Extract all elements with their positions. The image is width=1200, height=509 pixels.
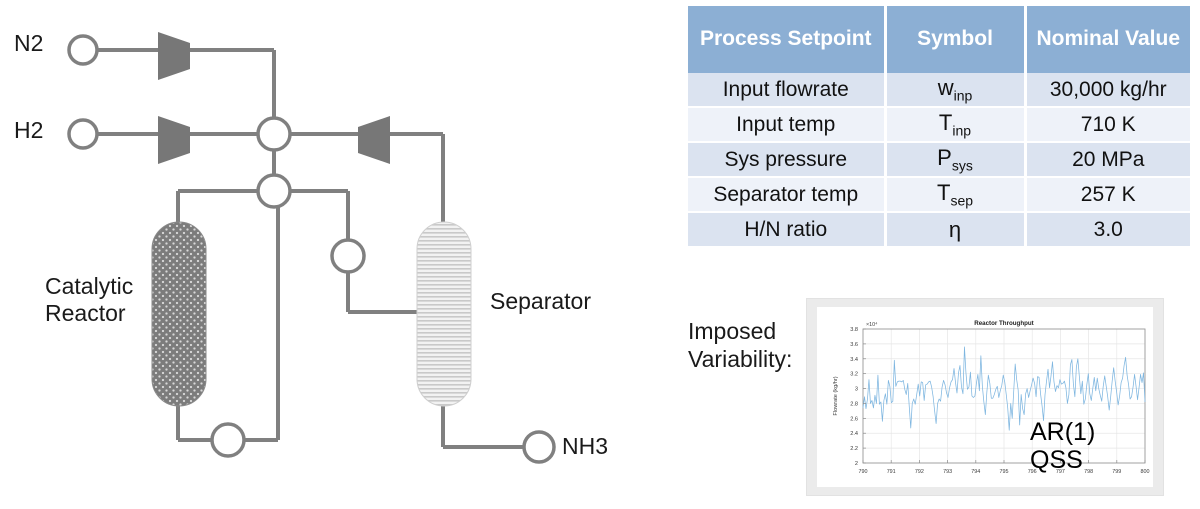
cell-symbol: Psys [885,142,1025,177]
chart-ytick-label: 3.2 [850,372,858,378]
node-recycle-mixer [258,175,290,207]
process-flow-diagram: N2 H2 NH3 Catalytic Reactor Separator [0,0,670,504]
node-reactor-outlet [212,424,244,456]
node-separator-sidedraw [332,240,364,272]
unit-label-catalytic-reactor: Catalytic Reactor [45,273,133,327]
chart-annotation-ar1: AR(1) [1030,419,1095,446]
cell-nominal-value: 30,000 kg/hr [1025,73,1190,107]
cell-nominal-value: 3.0 [1025,212,1190,247]
chart-ylabel: Flowrate (kg/hr) [833,376,839,415]
compressor-h2-icon [158,116,190,164]
compressor-recycle-icon [358,116,390,164]
chart-ytick-label: 2.2 [850,446,858,452]
table-header-row: Process Setpoint Symbol Nominal Value [688,6,1190,73]
chart-plot-area: 79079179279379479579679779879980022.22.4… [817,307,1153,487]
catalytic-reactor-vessel [152,222,206,406]
chart-xtick-label: 790 [859,469,868,475]
chart-xtick-label: 791 [887,469,896,475]
table-row: Separator tempTsep257 K [688,177,1190,212]
chart-y-exponent-label: ×10⁴ [866,322,878,328]
node-feed-mixer [258,118,290,150]
chart-ytick-label: 3.6 [850,342,858,348]
chart-xtick-label: 800 [1141,469,1150,475]
chart-xtick-label: 793 [943,469,952,475]
chart-ytick-label: 2 [855,461,858,467]
stream-label-n2: N2 [14,30,43,57]
cell-setpoint: H/N ratio [688,212,885,247]
pfd-svg [0,0,670,504]
stream-label-nh3: NH3 [562,433,608,460]
cell-nominal-value: 710 K [1025,107,1190,142]
chart-ytick-label: 3.8 [850,327,858,333]
chart-xtick-label: 795 [1000,469,1009,475]
node-n2-source [69,36,97,64]
chart-annotation-qss: QSS [1030,447,1083,474]
unit-label-separator: Separator [490,288,591,315]
chart-xtick-label: 799 [1112,469,1121,475]
cell-setpoint: Input temp [688,107,885,142]
chart-xtick-label: 792 [915,469,924,475]
cell-symbol: Tinp [885,107,1025,142]
cell-setpoint: Sys pressure [688,142,885,177]
chart-xtick-label: 798 [1084,469,1093,475]
separator-vessel [417,222,471,406]
table-row: H/N ratioη3.0 [688,212,1190,247]
reactor-throughput-chart-panel: 79079179279379479579679779879980022.22.4… [806,298,1164,496]
table-row: Input flowratewinp30,000 kg/hr [688,73,1190,107]
cell-symbol: winp [885,73,1025,107]
chart-ytick-label: 2.4 [850,431,858,437]
header-process-setpoint: Process Setpoint [688,6,885,73]
header-symbol: Symbol [885,6,1025,73]
imposed-variability-label: Imposed Variability: [688,318,792,373]
compressor-n2-icon [158,32,190,80]
cell-setpoint: Separator temp [688,177,885,212]
chart-xtick-label: 794 [971,469,980,475]
cell-symbol: η [885,212,1025,247]
chart-title: Reactor Throughput [974,320,1033,327]
stream-label-h2: H2 [14,117,43,144]
table-row: Input tempTinp710 K [688,107,1190,142]
chart-svg: 79079179279379479579679779879980022.22.4… [817,307,1153,487]
chart-ytick-label: 3 [855,387,858,393]
chart-ytick-label: 3.4 [850,357,858,363]
node-nh3-product [524,432,554,462]
cell-symbol: Tsep [885,177,1025,212]
node-h2-source [69,120,97,148]
chart-ytick-label: 2.8 [850,401,858,407]
cell-setpoint: Input flowrate [688,73,885,107]
cell-nominal-value: 257 K [1025,177,1190,212]
table-row: Sys pressurePsys20 MPa [688,142,1190,177]
process-setpoint-table: Process Setpoint Symbol Nominal Value In… [688,6,1190,248]
chart-ytick-label: 2.6 [850,416,858,422]
header-nominal-value: Nominal Value [1025,6,1190,73]
cell-nominal-value: 20 MPa [1025,142,1190,177]
pfd-nodes [69,36,554,462]
